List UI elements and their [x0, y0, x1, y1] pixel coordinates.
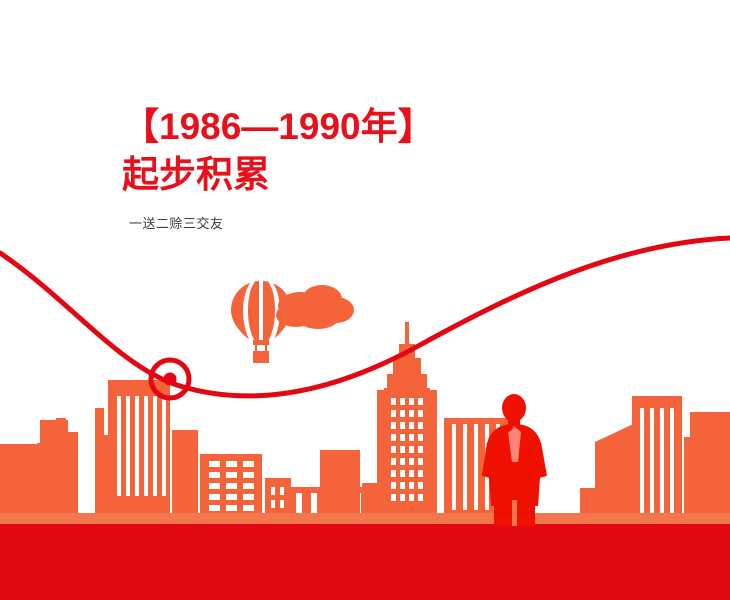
building-mid-1 [172, 430, 198, 514]
building-left-8 [95, 408, 104, 514]
cloud [276, 285, 354, 329]
slide-title-years: 【1986—1990年】 [122, 104, 642, 150]
building-far-right [690, 412, 730, 514]
presentation-slide: 【1986—1990年】 起步积累 一送二赊三交友 [0, 0, 730, 600]
city-skyline [0, 322, 730, 514]
slide-text-block: 【1986—1990年】 起步积累 一送二赊三交友 [122, 104, 642, 234]
slide-subtitle: 一送二赊三交友 [129, 214, 642, 234]
ground-band-red [0, 524, 730, 600]
building-left-10 [56, 418, 66, 514]
slide-artwork [0, 0, 730, 600]
building-center-slab [320, 450, 360, 514]
building-right-low [580, 488, 600, 514]
building-mid-2 [265, 478, 291, 514]
building-left-antenna [42, 423, 47, 435]
ground-band-orange [0, 513, 730, 525]
building-striped-right [632, 396, 682, 514]
slide-title-phrase: 起步积累 [122, 152, 642, 198]
timeline-trend-curve [0, 238, 730, 396]
building-far-right-2 [684, 437, 694, 514]
